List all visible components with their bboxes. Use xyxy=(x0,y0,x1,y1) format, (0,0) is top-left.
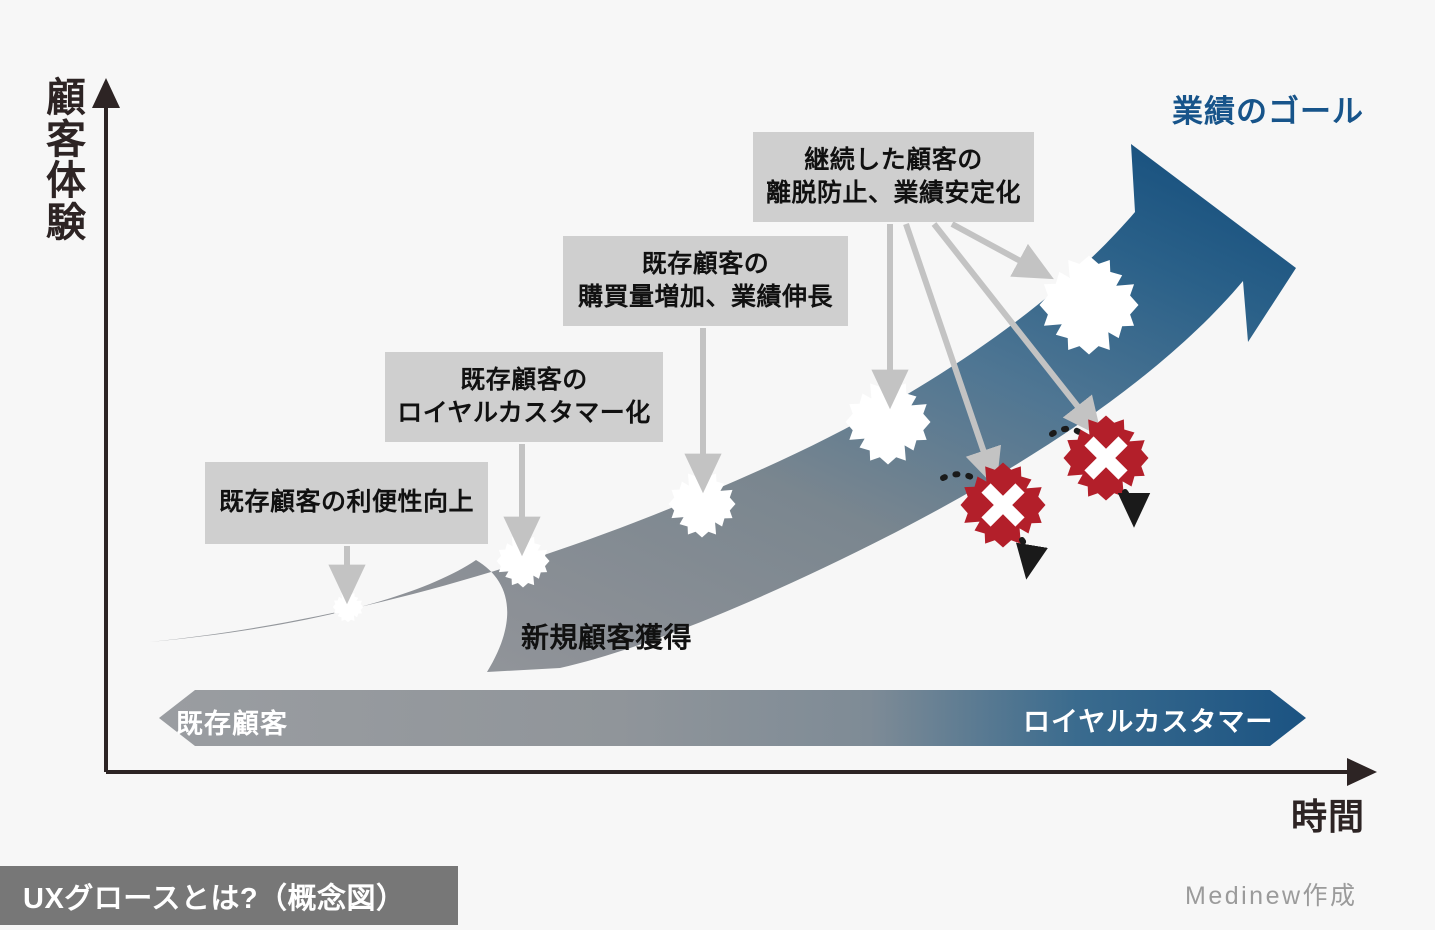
callout-retention-stability: 継続した顧客の 離脱防止、業績安定化 xyxy=(753,132,1034,222)
callout-4-line-1: 離脱防止、業績安定化 xyxy=(766,177,1021,211)
callout-2-line-1: ロイヤルカスタマー化 xyxy=(397,397,651,431)
x-axis-label: 時間 xyxy=(1291,788,1365,840)
callout-2-line-0: 既存顧客の xyxy=(397,364,651,398)
callout-1-line-0: 既存顧客の利便性向上 xyxy=(219,486,474,520)
callout-loyal-conversion: 既存顧客の ロイヤルカスタマー化 xyxy=(385,352,663,442)
callout-3-line-0: 既存顧客の xyxy=(578,248,833,282)
goal-label: 業績のゴール xyxy=(1172,86,1364,131)
y-axis-label: 顧 客 体 験 xyxy=(38,78,94,244)
growth-band xyxy=(150,144,1296,672)
milestone-burst-1 xyxy=(333,592,364,623)
y-axis-char-0: 顧 xyxy=(38,78,94,120)
churn-out-arrow-2 xyxy=(1125,492,1134,511)
y-axis-char-3: 験 xyxy=(38,203,94,245)
x-axis-arrowhead xyxy=(1347,758,1377,786)
stage-label-existing-customer: 既存顧客 xyxy=(176,702,288,741)
stage-label-loyal-customer: ロイヤルカスタマー xyxy=(1023,700,1273,739)
callout-4-line-0: 継続した顧客の xyxy=(766,144,1021,178)
y-axis-char-1: 客 xyxy=(38,120,94,162)
caption-bar: UXグロースとは?（概念図） xyxy=(0,866,458,925)
callout-purchase-growth: 既存顧客の 購買量増加、業績伸長 xyxy=(563,236,848,326)
callout-existing-convenience: 既存顧客の利便性向上 xyxy=(205,462,488,544)
churn-out-arrow-1 xyxy=(1022,540,1029,563)
y-axis-arrowhead xyxy=(92,78,120,108)
diagram-canvas: 顧 客 体 験 時間 業績のゴール 既存顧客の利便性向上 既存顧客の ロイヤルカ… xyxy=(0,0,1435,930)
y-axis-char-2: 体 xyxy=(38,161,94,203)
callout-3-line-1: 購買量増加、業績伸長 xyxy=(578,281,833,315)
new-customer-acquisition-label: 新規顧客獲得 xyxy=(521,616,692,656)
caption-text: UXグロースとは?（概念図） xyxy=(0,875,406,917)
credit-text: Medinew作成 xyxy=(1185,876,1358,912)
